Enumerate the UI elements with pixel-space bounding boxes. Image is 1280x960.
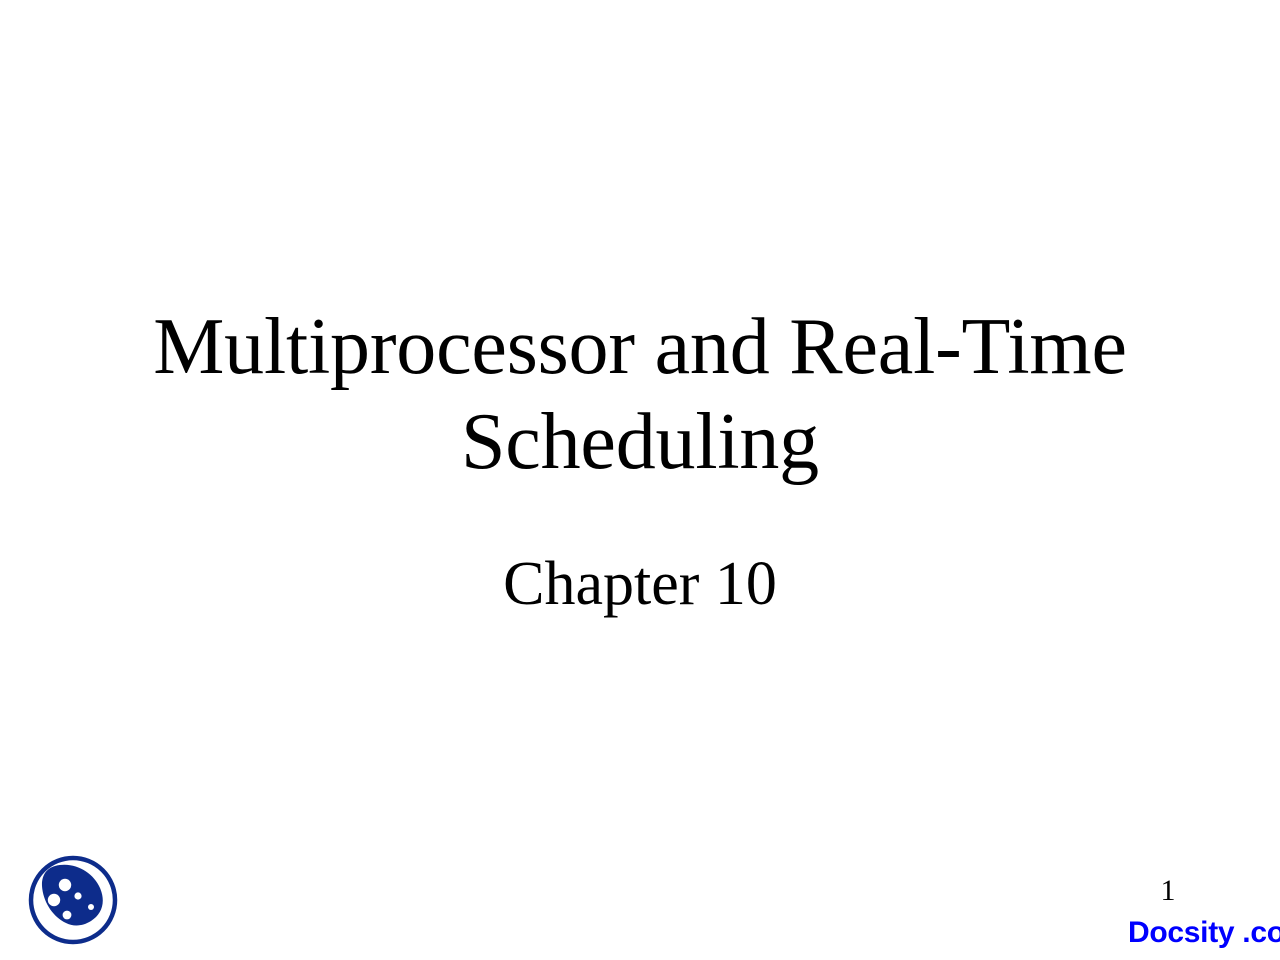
docsity-cookie-logo-icon: [25, 852, 121, 948]
title-placeholder: Multiprocessor and Real-Time Scheduling: [90, 300, 1190, 490]
page-subtitle: Chapter 10: [90, 548, 1190, 620]
page-number: 1: [1120, 874, 1216, 908]
slide-canvas: Multiprocessor and Real-Time Scheduling …: [0, 0, 1280, 960]
docsity-watermark: Docsity .com: [1128, 916, 1280, 950]
subtitle-placeholder: Chapter 10: [90, 548, 1190, 620]
page-title: Multiprocessor and Real-Time Scheduling: [90, 300, 1190, 490]
